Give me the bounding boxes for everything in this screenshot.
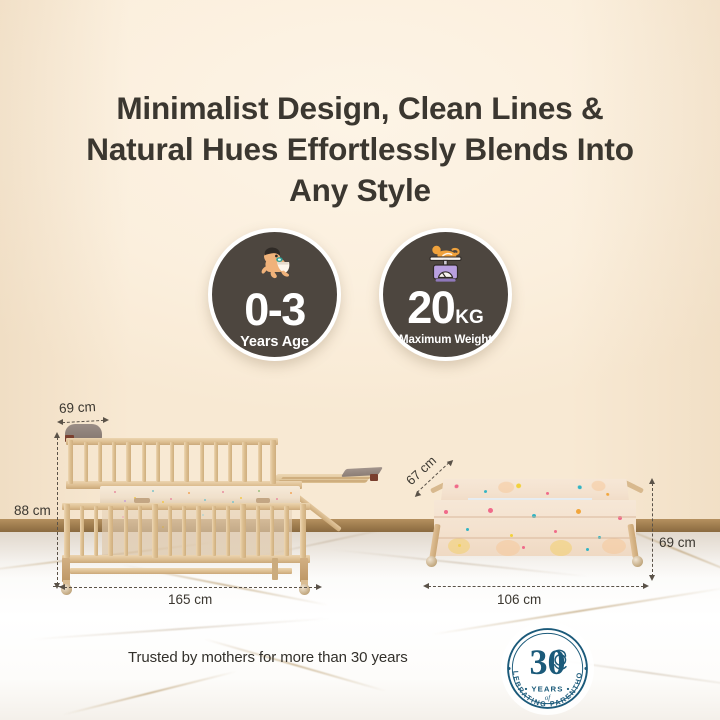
badge-weight-unit: KG bbox=[455, 308, 484, 327]
badge-weight-value: 20 KG bbox=[407, 285, 484, 330]
dimension-line-bassinet-width bbox=[428, 586, 644, 587]
badge-age-value: 0-3 bbox=[244, 287, 305, 332]
product-feature-panel: Minimalist Design, Clean Lines & Natural… bbox=[0, 0, 720, 720]
feature-badge-group: 0-3 Years Age bbox=[0, 228, 720, 361]
dimension-label-crib-height: 88 cm bbox=[14, 503, 51, 518]
anniversary-seal-badge: 30 • YEARS • of CELEBRATING PARENTHOOD bbox=[500, 621, 595, 716]
badge-max-weight: 20 KG Maximum Weight bbox=[379, 228, 512, 361]
page-title: Minimalist Design, Clean Lines & Natural… bbox=[0, 88, 720, 211]
dimension-label-bassinet-height: 69 cm bbox=[659, 535, 696, 550]
crib-base-rail bbox=[70, 568, 292, 574]
dimension-line-bassinet-height bbox=[652, 483, 653, 577]
seal-years-text: • YEARS • bbox=[525, 684, 571, 693]
bassinet-mesh-front bbox=[434, 500, 636, 556]
crib-leg-right bbox=[300, 558, 308, 582]
dimension-line-crib-height bbox=[57, 437, 58, 585]
product-bedside-bassinet bbox=[424, 474, 648, 586]
headline-line-3: Any Style bbox=[36, 170, 684, 211]
crib-wheel-right bbox=[299, 584, 310, 595]
seal-number: 30 bbox=[529, 642, 565, 682]
badge-weight-number: 20 bbox=[407, 285, 454, 330]
bassinet-wheel-left bbox=[426, 556, 437, 567]
badge-age-range: 0-3 Years Age bbox=[208, 228, 341, 361]
changing-tray-chip bbox=[370, 474, 378, 481]
dimension-label-crib-width: 165 cm bbox=[168, 592, 212, 607]
badge-weight-caption: Maximum Weight bbox=[399, 334, 492, 346]
badge-age-caption: Years Age bbox=[240, 334, 309, 350]
dimension-label-crib-depth: 69 cm bbox=[59, 399, 97, 416]
crawling-baby-icon bbox=[252, 244, 298, 286]
product-convertible-crib bbox=[56, 418, 376, 596]
dimension-label-bassinet-width: 106 cm bbox=[497, 592, 541, 607]
badge-age-number: 0-3 bbox=[244, 287, 305, 332]
baby-weighing-scale-icon bbox=[425, 242, 467, 284]
footer-tagline: Trusted by mothers for more than 30 year… bbox=[128, 649, 408, 666]
dimension-line-crib-width bbox=[64, 587, 317, 588]
headline-line-1: Minimalist Design, Clean Lines & bbox=[36, 88, 684, 129]
headline-line-2: Natural Hues Effortlessly Blends Into bbox=[36, 129, 684, 170]
crib-leg-left bbox=[62, 558, 70, 582]
bassinet-wheel-right bbox=[632, 556, 643, 567]
